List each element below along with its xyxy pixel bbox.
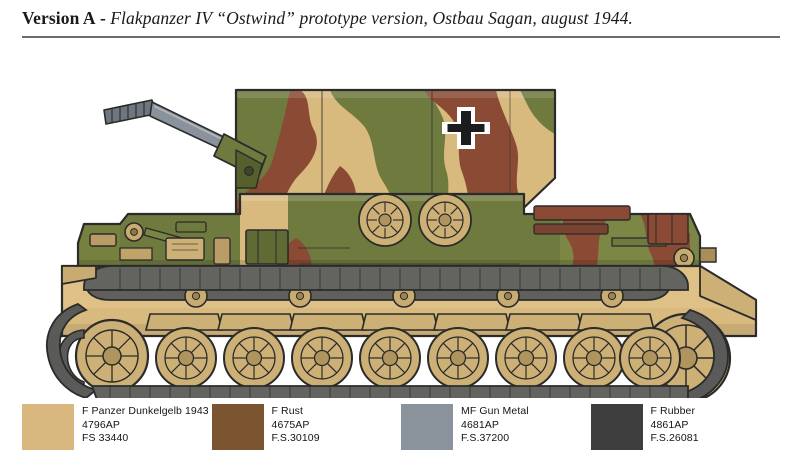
illustration-page: Version A - Flakpanzer IV “Ostwind” prot… — [0, 0, 800, 473]
legend-item: MF Gun Metal 4681AP F.S.37200 — [401, 404, 591, 462]
color-swatch — [591, 404, 643, 450]
legend-text-block: MF Gun Metal 4681AP F.S.37200 — [461, 404, 529, 446]
paint-name: F Panzer Dunkelgelb 1943 — [82, 405, 209, 419]
paint-code: 4796AP — [82, 419, 209, 433]
paint-code: 4675AP — [272, 419, 320, 433]
paint-name: F Rust — [272, 405, 320, 419]
version-description: Flakpanzer IV “Ostwind” prototype versio… — [110, 8, 633, 28]
legend-item: F Panzer Dunkelgelb 1943 4796AP FS 33440 — [22, 404, 212, 462]
paint-standard: FS 33440 — [82, 432, 209, 446]
paint-standard: F.S.30109 — [272, 432, 320, 446]
color-swatch — [212, 404, 264, 450]
title-separator: - — [96, 8, 111, 28]
bogie-units — [146, 314, 654, 330]
legend-item: F Rubber 4861AP F.S.26081 — [591, 404, 781, 462]
page-title: Version A - Flakpanzer IV “Ostwind” prot… — [22, 8, 782, 34]
color-swatch — [22, 404, 74, 450]
legend-item: F Rust 4675AP F.S.30109 — [212, 404, 402, 462]
legend-text-block: F Rust 4675AP F.S.30109 — [272, 404, 320, 446]
idler-wheel — [76, 320, 148, 392]
paint-standard: F.S.37200 — [461, 432, 529, 446]
legend-text-block: F Panzer Dunkelgelb 1943 4796AP FS 33440 — [82, 404, 209, 446]
paint-name: F Rubber — [651, 405, 699, 419]
color-swatch — [401, 404, 453, 450]
legend-text-block: F Rubber 4861AP F.S.26081 — [651, 404, 699, 446]
vehicle-profile-illustration — [0, 38, 800, 398]
paint-standard: F.S.26081 — [651, 432, 699, 446]
paint-code: 4681AP — [461, 419, 529, 433]
version-label: Version A — [22, 8, 96, 28]
paint-code: 4861AP — [651, 419, 699, 433]
paint-color-legend: F Panzer Dunkelgelb 1943 4796AP FS 33440… — [22, 404, 780, 462]
paint-name: MF Gun Metal — [461, 405, 529, 419]
